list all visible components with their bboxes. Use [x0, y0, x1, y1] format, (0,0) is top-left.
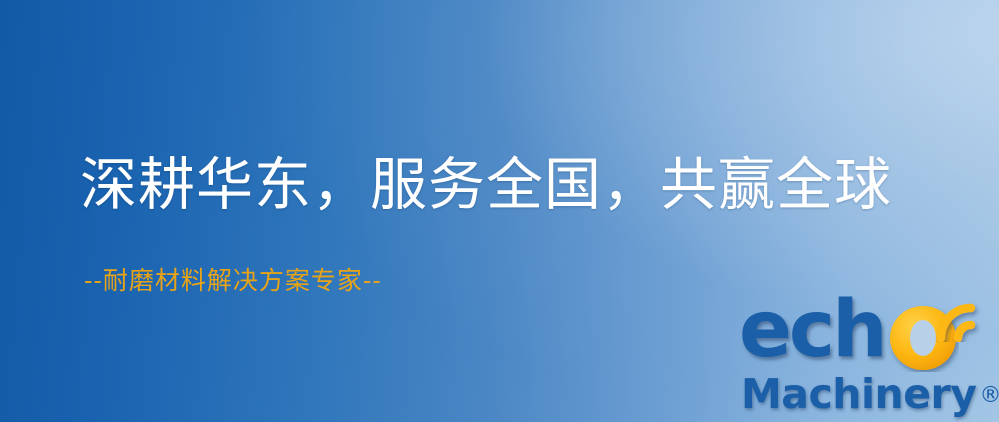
registered-trademark-icon: ® — [979, 376, 999, 416]
company-logo[interactable]: ech — [739, 294, 983, 420]
logo-machinery-text: Machinery — [741, 372, 976, 416]
logo-echo-text: ech — [739, 288, 885, 372]
banner-subtitle: --耐磨材料解决方案专家-- — [84, 266, 382, 296]
logo-signal-waves-icon — [935, 286, 995, 342]
banner-headline: 深耕华东，服务全国，共赢全球 — [80, 152, 892, 218]
logo-wordmark: ech — [739, 294, 983, 378]
promo-banner: 深耕华东，服务全国，共赢全球 --耐磨材料解决方案专家-- ech — [0, 0, 999, 422]
logo-machinery-row: Machinery ® — [741, 372, 999, 416]
